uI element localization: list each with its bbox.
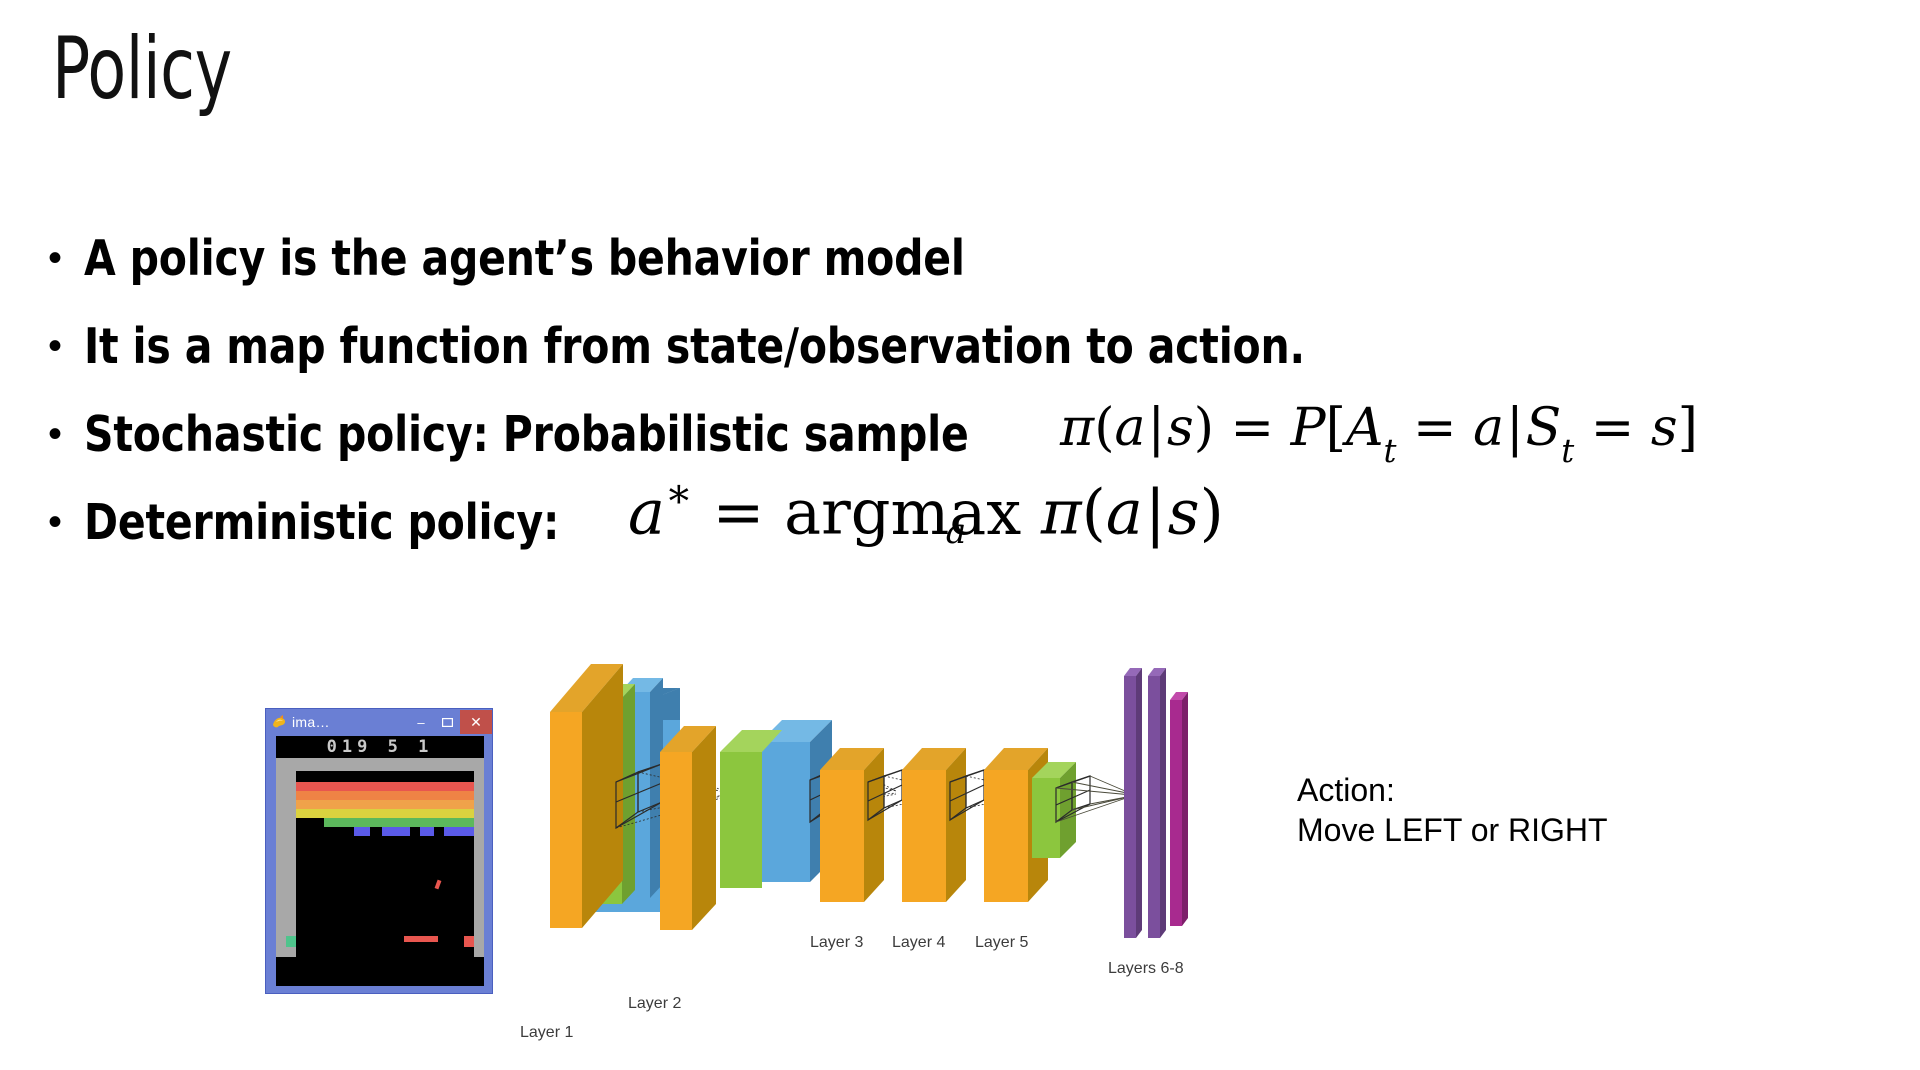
eq-a: a: [1114, 398, 1145, 458]
eq-P: P: [1291, 398, 1326, 458]
bullet-marker-icon: •: [48, 502, 84, 542]
brick-segment-blue-1: [354, 827, 370, 836]
brick-row-orange: [296, 791, 474, 800]
action-value: Move LEFT or RIGHT: [1297, 810, 1608, 850]
eq-equals: =: [713, 476, 765, 549]
bullet-label-4: Deterministic policy:: [84, 494, 559, 551]
action-label: Action:: [1297, 770, 1608, 810]
eq-bar-2: |: [1504, 398, 1526, 458]
atari-game-window[interactable]: ima… ‒ ✕ 019 5 1: [265, 708, 493, 994]
eq-bracket-open: [: [1326, 398, 1346, 458]
fc-bar-1: [1124, 668, 1142, 938]
eq-max-subscript: a: [890, 515, 1021, 550]
layer1-orange-plate: [550, 664, 623, 928]
brick-segment-blue-2: [382, 827, 410, 836]
equation-stochastic-policy: π(a|s) = P[At = a|St = s]: [1060, 402, 1698, 462]
bullet-item-2: • It is a map function from state/observ…: [48, 318, 1878, 406]
eq-close-paren-2: ): [1200, 476, 1224, 549]
cnn-svg: [520, 630, 1320, 1050]
eq-equals-3: =: [1591, 398, 1635, 458]
eq-star-icon: ∗: [665, 469, 693, 517]
layer5-green-block: [1032, 762, 1076, 858]
maximize-button[interactable]: [434, 710, 460, 734]
app-icon: [271, 714, 288, 731]
eq-a-star: a: [628, 476, 665, 549]
eq-A-subscript: t: [1384, 432, 1397, 470]
layer-label-2: Layer 2: [628, 995, 681, 1013]
game-playfield: [276, 758, 484, 986]
fc-bar-2: [1148, 668, 1166, 938]
brick-row-red: [296, 782, 474, 791]
eq-arg: arg: [784, 476, 890, 549]
eq-s-3: s: [1168, 476, 1200, 549]
brick-row-green: [324, 818, 474, 827]
bullet-item-1: • A policy is the agent’s behavior model: [48, 230, 1878, 318]
eq-S-subscript: t: [1561, 432, 1574, 470]
brick-row-yellow-b: [296, 809, 304, 818]
eq-A: A: [1346, 398, 1384, 458]
playfield-floor: [276, 957, 484, 986]
cnn-layers-6-8: [1124, 668, 1188, 938]
window-titlebar[interactable]: ima… ‒ ✕: [266, 709, 492, 735]
paddle: [404, 936, 438, 942]
bullet-marker-icon: •: [48, 238, 84, 278]
right-wall-marker: [464, 936, 474, 947]
eq-S: S: [1526, 398, 1562, 458]
layer-label-5: Layer 5: [975, 934, 1028, 952]
layer-label-3: Layer 3: [810, 934, 863, 952]
eq-a-2: a: [1473, 398, 1504, 458]
page-title: Policy: [52, 22, 232, 117]
eq-open-paren: (: [1094, 398, 1114, 458]
game-screen[interactable]: 019 5 1: [276, 736, 484, 986]
bullet-label-3: Stochastic policy: Probabilistic sample: [84, 406, 969, 463]
eq-bar-3: |: [1143, 476, 1168, 549]
cnn-architecture-diagram: Layer 1 Layer 2 Layer 3 Layer 4 Layer 5 …: [520, 630, 1320, 1050]
layer-label-1: Layer 1: [520, 1024, 573, 1042]
window-title: ima…: [292, 714, 408, 730]
brick-segment-blue-4: [444, 827, 474, 836]
eq-pi: π: [1060, 398, 1094, 458]
score-display: 019 5 1: [276, 736, 484, 758]
eq-bracket-close: ]: [1678, 398, 1698, 458]
layer-label-4: Layer 4: [892, 934, 945, 952]
eq-s: s: [1167, 398, 1194, 458]
bullet-marker-icon: •: [48, 326, 84, 366]
close-button[interactable]: ✕: [460, 710, 492, 734]
brick-row-lightorange: [296, 800, 474, 809]
eq-a-3: a: [1106, 476, 1143, 549]
maximize-icon: [442, 718, 453, 727]
action-callout: Action: Move LEFT or RIGHT: [1297, 770, 1608, 851]
fc-bar-3-output: [1170, 692, 1188, 926]
eq-s-2: s: [1651, 398, 1678, 458]
equation-deterministic-policy: a∗ = argmaxa π(a|s): [628, 478, 1224, 544]
eq-argmax: maxa: [890, 482, 1021, 544]
eq-open-paren-2: (: [1082, 476, 1106, 549]
eq-equals-2: =: [1413, 398, 1457, 458]
cnn-layer-5: [984, 748, 1132, 902]
brick-segment-blue-3: [420, 827, 434, 836]
eq-equals-1: =: [1231, 398, 1275, 458]
bullet-label-2: It is a map function from state/observat…: [84, 318, 1305, 375]
left-wall-marker: [286, 936, 296, 947]
layer2-orange-plate: [660, 726, 716, 930]
eq-bar: |: [1146, 398, 1168, 458]
minimize-button[interactable]: ‒: [408, 710, 434, 734]
brick-row-yellow: [304, 809, 474, 818]
eq-close-paren: ): [1194, 398, 1214, 458]
bullet-label-1: A policy is the agent’s behavior model: [84, 230, 965, 287]
layer-label-6-8: Layers 6-8: [1108, 960, 1184, 978]
eq-pi-2: π: [1041, 476, 1082, 549]
bullet-marker-icon: •: [48, 414, 84, 454]
